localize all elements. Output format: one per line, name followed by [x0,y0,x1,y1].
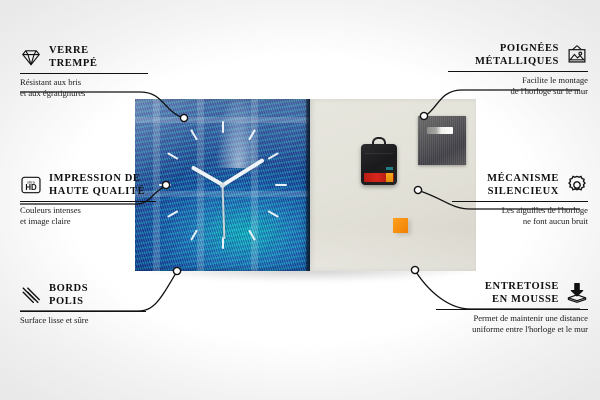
callout-description: Couleurs intenses et image claire [20,205,156,227]
hour-marker [222,121,224,133]
diamond-icon [20,46,42,68]
clock-face-panel [135,99,310,271]
svg-text:HD: HD [25,183,37,192]
hour-marker [159,184,171,186]
metal-hanger-plate [418,116,466,165]
product-photo [135,99,476,271]
callout-description: Surface lisse et sûre [20,315,146,326]
hanger-loop-icon [372,137,386,147]
divider [436,309,588,310]
hour-marker [167,210,178,218]
callout-verre-trempe: VERRE TREMPÉ Résistant aux bris et aux é… [20,44,148,99]
divider [448,71,588,72]
divider [20,201,156,202]
hour-marker [267,152,278,160]
divider [20,73,148,74]
callout-poignees-metalliques: POIGNÉES MÉTALLIQUES Facilite le montage… [448,42,588,97]
callout-title: MÉCANISME SILENCIEUX [487,172,559,198]
hanging-picture-frame-icon [566,44,588,66]
callout-description: Permet de maintenir une distance uniform… [436,313,588,335]
hour-marker [275,184,287,186]
callout-mecanisme-silencieux: MÉCANISME SILENCIEUX Les aiguilles de l'… [452,172,588,227]
callout-bords-polis: BORDS POLIS Surface lisse et sûre [20,282,146,326]
polished-edge-lines-icon [20,284,42,306]
hour-marker [167,152,178,160]
hour-marker [267,210,278,218]
foam-spacer [393,218,408,233]
callout-title: IMPRESSION DE HAUTE QUALITÉ [49,172,145,198]
divider [452,201,588,202]
ultra-hd-badge-icon: ultra HD [20,174,42,196]
callout-impression: ultra HD IMPRESSION DE HAUTE QUALITÉ Cou… [20,172,156,227]
clock-center-cap [220,183,225,188]
gear-icon [566,174,588,196]
infographic-canvas: VERRE TREMPÉ Résistant aux bris et aux é… [0,0,600,400]
callout-title: BORDS POLIS [49,282,88,308]
down-arrow-foam-pad-icon [566,282,588,304]
callout-description: Facilite le montage de l'horloge sur le … [448,75,588,97]
clock-mechanism [361,144,397,185]
callout-title: ENTRETOISE EN MOUSSE [485,280,559,306]
divider [20,311,146,312]
clock-hour-hand [190,165,223,186]
callout-title: POIGNÉES MÉTALLIQUES [475,42,559,68]
callout-title: VERRE TREMPÉ [49,44,98,70]
battery [364,173,394,182]
callout-description: Les aiguilles de l'horloge ne font aucun… [452,205,588,227]
callout-entretoise-en-mousse: ENTRETOISE EN MOUSSE Permet de maintenir… [436,280,588,335]
callout-description: Résistant aux bris et aux égratignures [20,77,148,99]
